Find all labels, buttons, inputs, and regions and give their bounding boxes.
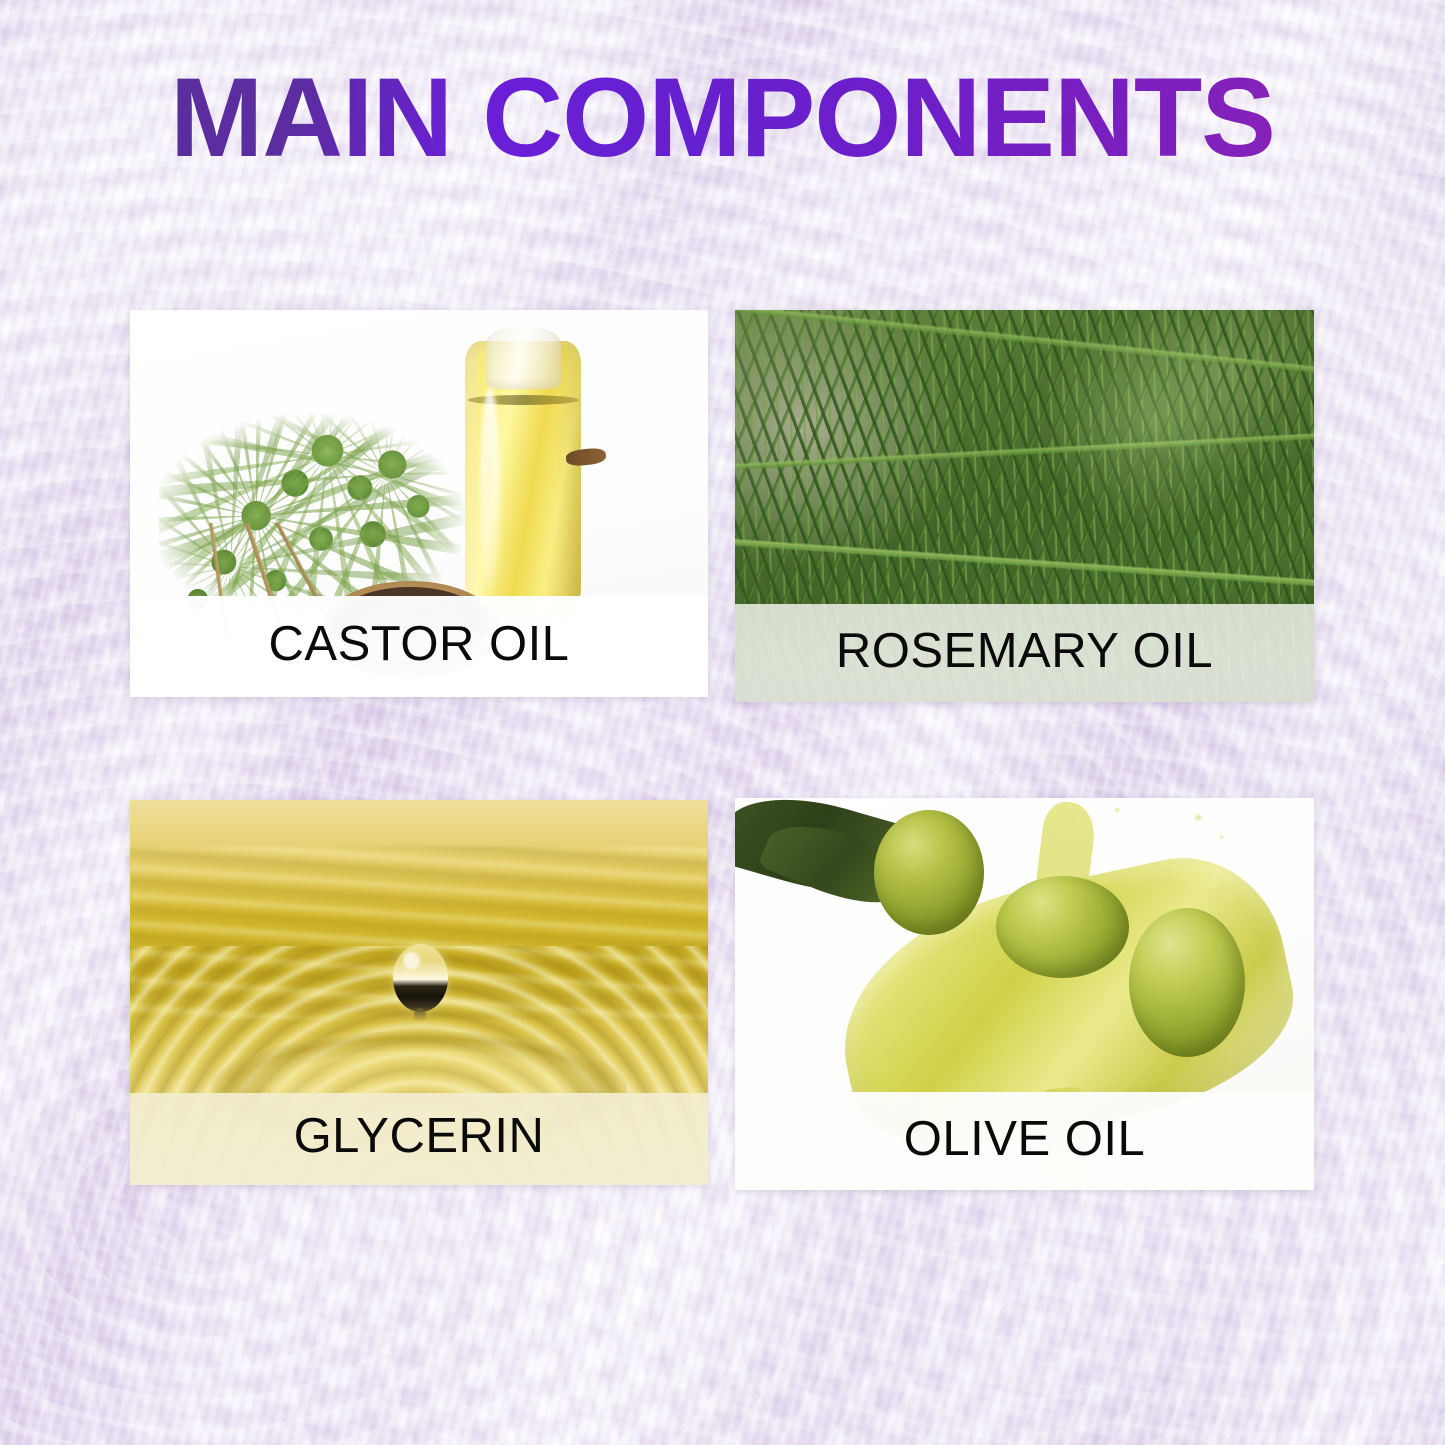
component-card-glycerin[interactable]: GLYCERIN xyxy=(130,800,708,1185)
main-components-infographic: MAIN COMPONENTS CASTOR OIL xyxy=(0,0,1445,1445)
rosemary-oil-caption-band: ROSEMARY OIL xyxy=(735,604,1314,702)
page-title: MAIN COMPONENTS xyxy=(0,62,1445,174)
glycerin-droplet-icon xyxy=(393,944,448,1011)
castor-oil-caption-band: CASTOR OIL xyxy=(130,596,708,697)
component-card-olive-oil[interactable]: OLIVE OIL xyxy=(735,798,1314,1190)
glycerin-label: GLYCERIN xyxy=(294,1112,545,1161)
carafe-neck-icon xyxy=(486,327,561,389)
glycerin-caption-band: GLYCERIN xyxy=(130,1093,708,1185)
castor-oil-label: CASTOR OIL xyxy=(269,620,570,669)
olive-oil-label: OLIVE OIL xyxy=(904,1115,1145,1164)
carafe-highlight xyxy=(480,387,500,588)
glycerin-droplet-tail xyxy=(414,1008,426,1022)
components-grid: CASTOR OIL ROSEMARY OIL xyxy=(130,310,1314,1190)
component-card-castor-oil[interactable]: CASTOR OIL xyxy=(130,310,708,697)
olive-oil-caption-band: OLIVE OIL xyxy=(735,1092,1314,1190)
rosemary-oil-label: ROSEMARY OIL xyxy=(836,627,1213,676)
component-card-rosemary-oil[interactable]: ROSEMARY OIL xyxy=(735,310,1314,702)
